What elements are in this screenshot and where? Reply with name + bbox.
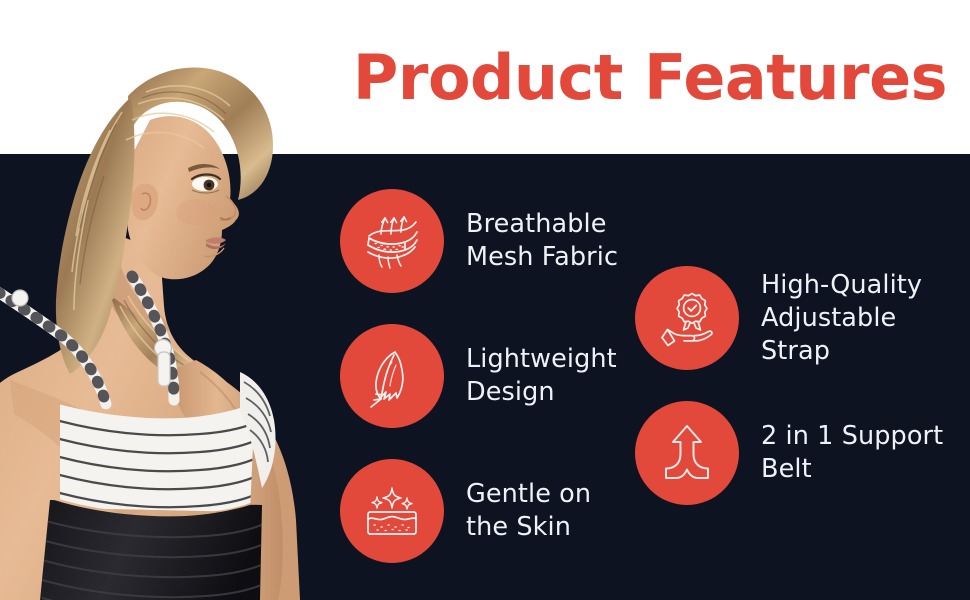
feature-label-lightweight: Lightweight Design xyxy=(466,343,617,409)
feature-item-support: 2 in 1 Support Belt xyxy=(635,401,943,505)
feature-label-support: 2 in 1 Support Belt xyxy=(761,420,943,486)
hand-quality-badge-icon xyxy=(635,266,739,370)
feature-label-breathable: Breathable Mesh Fabric xyxy=(466,208,618,274)
feature-label-gentle: Gentle on the Skin xyxy=(466,478,591,544)
feature-item-quality: High-Quality Adjustable Strap xyxy=(635,266,970,370)
skin-sparkle-icon xyxy=(340,459,444,563)
feature-label-quality: High-Quality Adjustable Strap xyxy=(761,269,970,368)
page-title: Product Features xyxy=(330,0,970,154)
product-features-banner: Product Features xyxy=(0,0,970,600)
merging-arrow-icon xyxy=(635,401,739,505)
feather-icon xyxy=(340,324,444,428)
breathable-mesh-fabric-icon xyxy=(340,189,444,293)
model-product-photo xyxy=(0,0,330,600)
feature-item-gentle: Gentle on the Skin xyxy=(340,459,591,563)
feature-item-breathable: Breathable Mesh Fabric xyxy=(340,189,618,293)
feature-item-lightweight: Lightweight Design xyxy=(340,324,617,428)
